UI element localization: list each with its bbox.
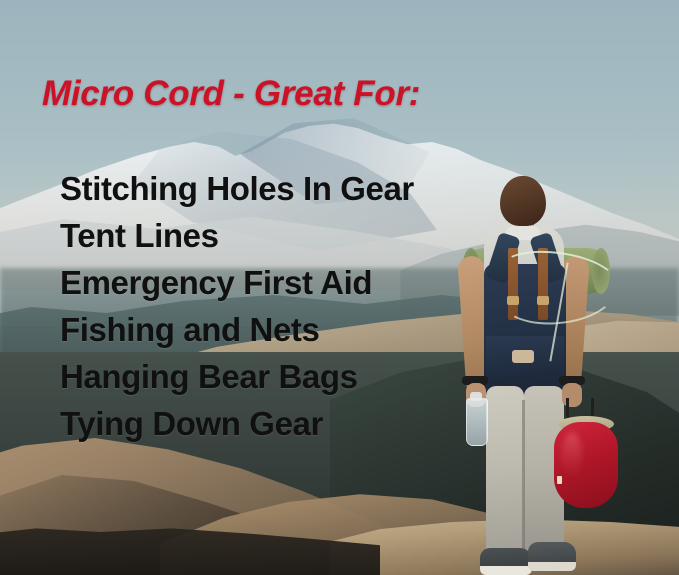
water-bottle <box>466 398 488 446</box>
hiker-head <box>500 176 546 226</box>
shoe-sole-left <box>480 566 532 575</box>
list-item: Hanging Bear Bags <box>60 353 414 400</box>
stuff-sack-tag <box>557 476 562 484</box>
sweatpants-seam <box>522 400 525 560</box>
banner-image: Micro Cord - Great For: Stitching Holes … <box>0 0 679 575</box>
stuff-sack-highlight <box>562 432 582 478</box>
list-item: Fishing and Nets <box>60 306 414 353</box>
hiker-figure <box>440 170 679 575</box>
list-item: Emergency First Aid <box>60 259 414 306</box>
uses-list: Stitching Holes In Gear Tent Lines Emerg… <box>60 165 414 447</box>
sweatpants-left-leg <box>486 386 524 561</box>
list-item: Tying Down Gear <box>60 400 414 447</box>
shoe-sole-right <box>528 562 576 571</box>
list-item: Tent Lines <box>60 212 414 259</box>
list-item: Stitching Holes In Gear <box>60 165 414 212</box>
backpack-logo-patch <box>512 350 534 363</box>
headline: Micro Cord - Great For: <box>42 74 420 114</box>
